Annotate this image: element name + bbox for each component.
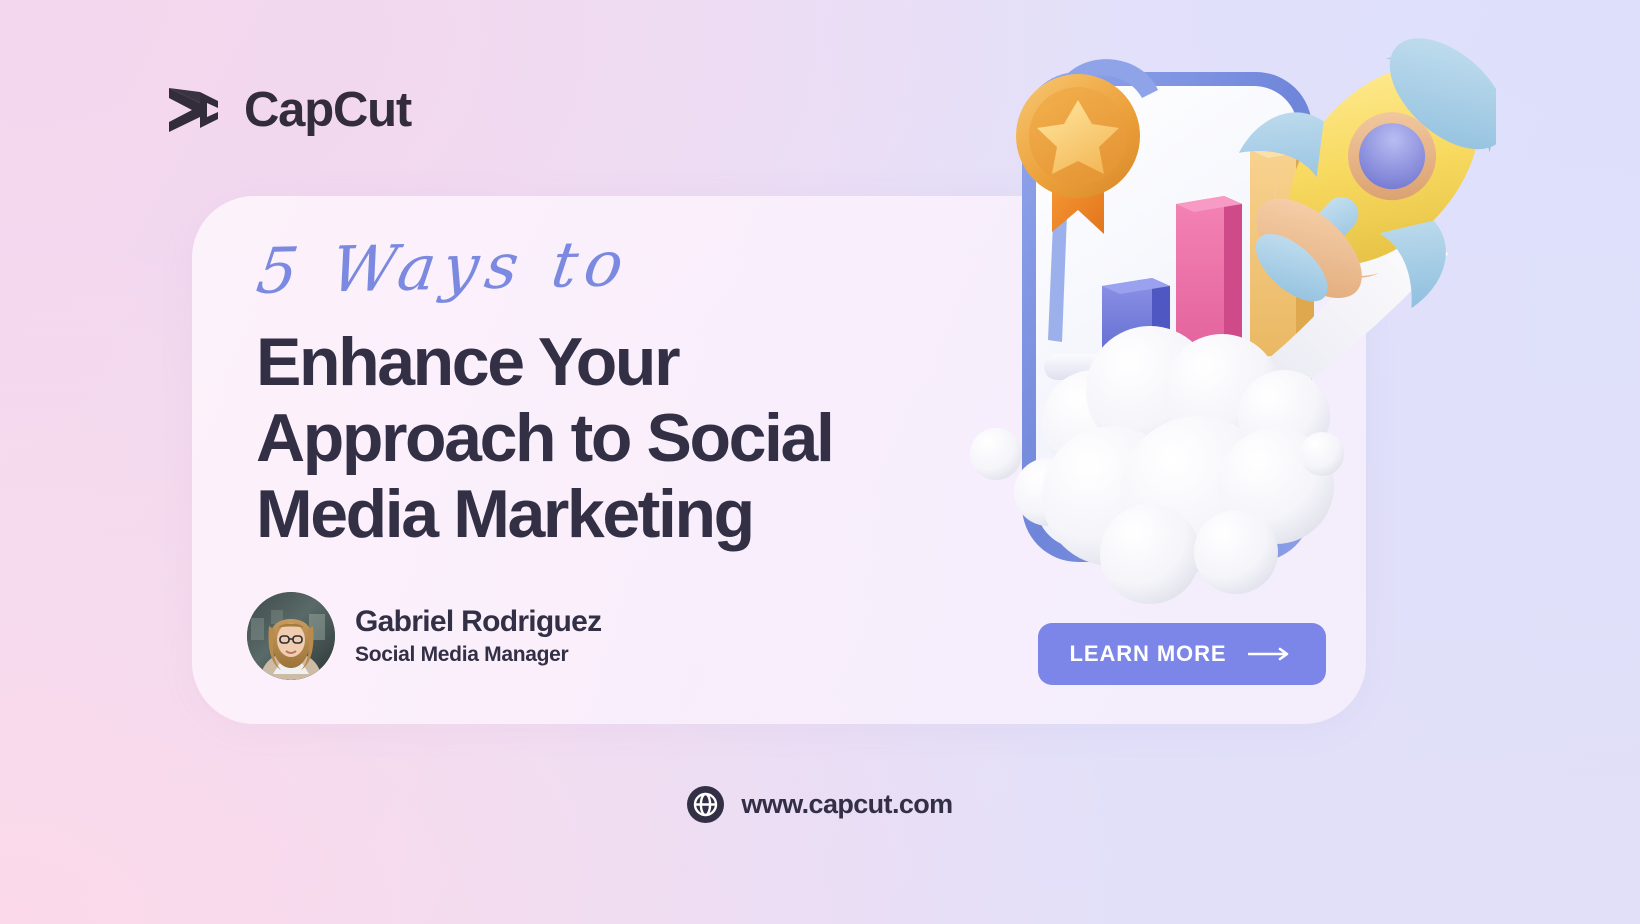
- author-name: Gabriel Rodriguez: [355, 605, 601, 639]
- author-text: Gabriel Rodriguez Social Media Manager: [355, 605, 601, 667]
- avatar: [247, 592, 335, 680]
- author-block: Gabriel Rodriguez Social Media Manager: [247, 592, 601, 680]
- brand-name: CapCut: [244, 82, 411, 138]
- globe-icon: [687, 786, 724, 823]
- avatar-photo-woman-glasses: [247, 592, 335, 680]
- learn-more-label: LEARN MORE: [1070, 641, 1227, 667]
- rocket-window: [1345, 110, 1438, 203]
- eyebrow-script-text: 5 Ways to: [253, 232, 634, 303]
- page-title: Enhance YourApproach to SocialMedia Mark…: [256, 324, 916, 552]
- arrow-right-icon: [1248, 647, 1294, 661]
- medal-star-badge: [1016, 74, 1140, 198]
- capcut-logo-icon: [166, 84, 224, 136]
- rocket-nose-and-fins: [1386, 34, 1496, 152]
- banner-canvas: CapCut 5 Ways to Enhance YourApproach to…: [0, 0, 1640, 924]
- learn-more-button[interactable]: LEARN MORE: [1038, 623, 1326, 685]
- rocket-window-ring: [1330, 94, 1454, 218]
- author-role: Social Media Manager: [355, 643, 601, 667]
- footer-url[interactable]: www.capcut.com: [741, 789, 952, 820]
- footer: www.capcut.com: [0, 786, 1640, 823]
- brand-logo[interactable]: CapCut: [166, 82, 411, 138]
